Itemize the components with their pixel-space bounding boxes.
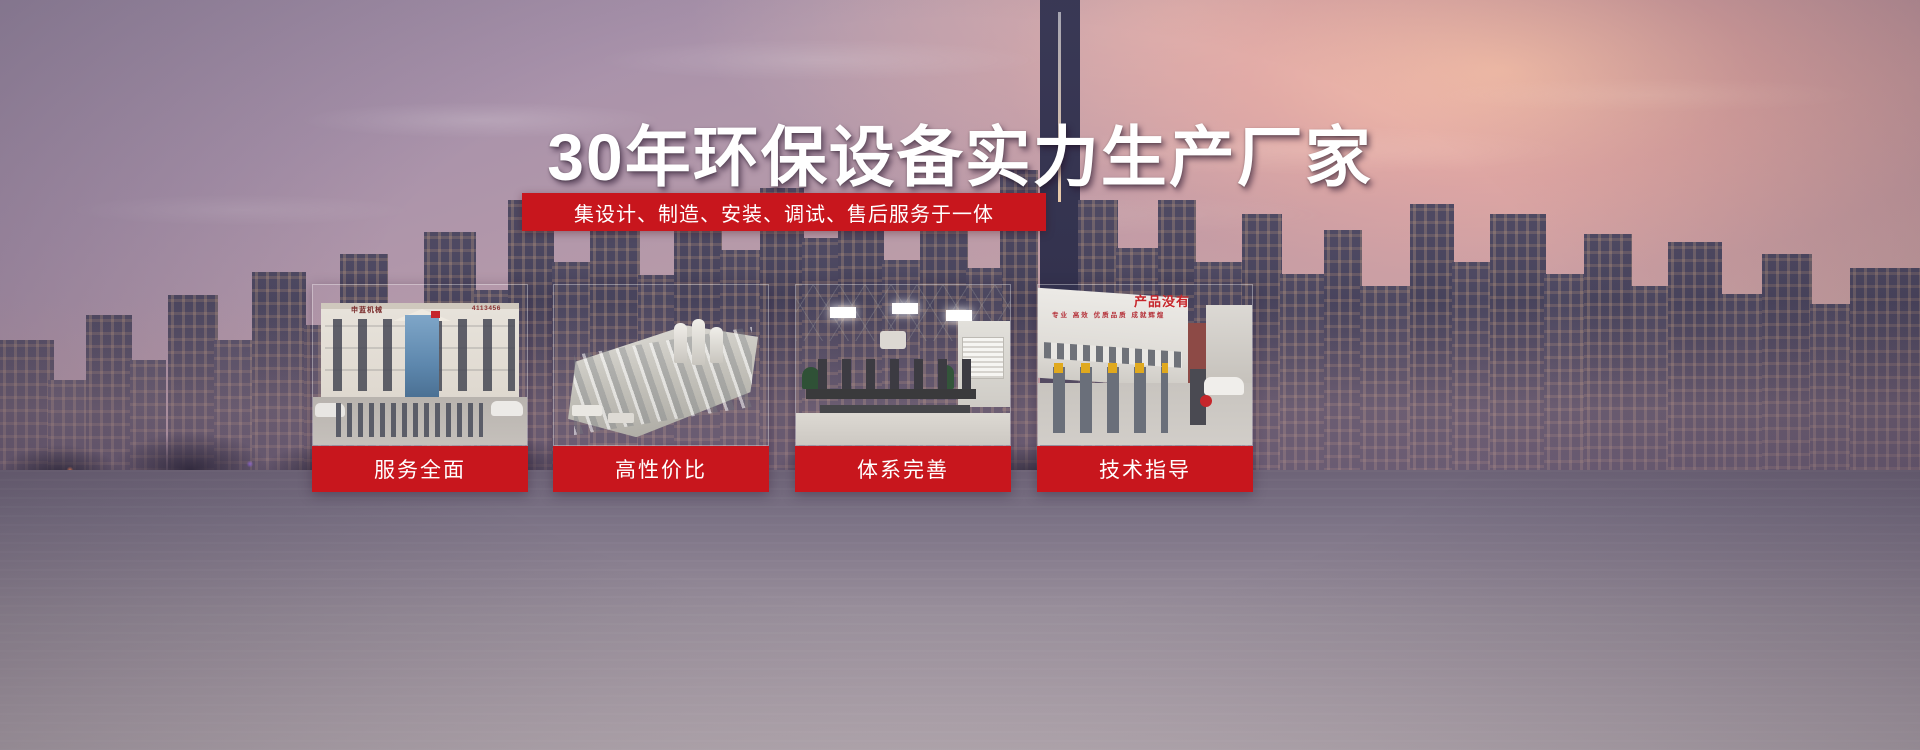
card-label-bar: 服务全面 (312, 446, 528, 492)
promo-banner: 30年环保设备实力生产厂家 集设计、制造、安装、调试、售后服务于一体 申蓝机械 … (0, 0, 1920, 750)
factory-banner-text: 产品没有 (1134, 291, 1190, 310)
feature-card-service[interactable]: 申蓝机械 4113456 服务全面 (312, 284, 528, 492)
card-label-bar: 技术指导 (1037, 446, 1253, 492)
feature-card-system[interactable]: 体系完善 (795, 284, 1011, 492)
card-label-text: 高性价比 (615, 454, 707, 484)
water-reflection (0, 470, 1920, 750)
feature-card-value[interactable]: 高性价比 (553, 284, 769, 492)
card-label-text: 技术指导 (1099, 454, 1191, 484)
building-sign-text: 申蓝机械 (351, 305, 383, 315)
feature-card-list: 申蓝机械 4113456 服务全面 (312, 284, 1472, 496)
card-photo-factory-workers: 专业 高效 优质品质 成就辉煌 产品没有 (1037, 284, 1253, 446)
card-photo-office-building: 申蓝机械 4113456 (312, 284, 528, 446)
building-phone-text: 4113456 (472, 305, 501, 312)
factory-wall-slogan: 专业 高效 优质品质 成就辉煌 (1052, 311, 1165, 321)
card-label-text: 服务全面 (374, 454, 466, 484)
card-label-text: 体系完善 (857, 454, 949, 484)
banner-subtitle-text: 集设计、制造、安装、调试、售后服务于一体 (574, 198, 994, 227)
card-label-bar: 体系完善 (795, 446, 1011, 492)
banner-subtitle-bar: 集设计、制造、安装、调试、售后服务于一体 (522, 193, 1046, 231)
card-photo-office-interior (795, 284, 1011, 446)
feature-card-training[interactable]: 专业 高效 优质品质 成就辉煌 产品没有 技术指导 (1037, 284, 1253, 492)
card-photo-industrial-plant (553, 284, 769, 446)
banner-headline: 30年环保设备实力生产厂家 (0, 104, 1920, 200)
card-label-bar: 高性价比 (553, 446, 769, 492)
